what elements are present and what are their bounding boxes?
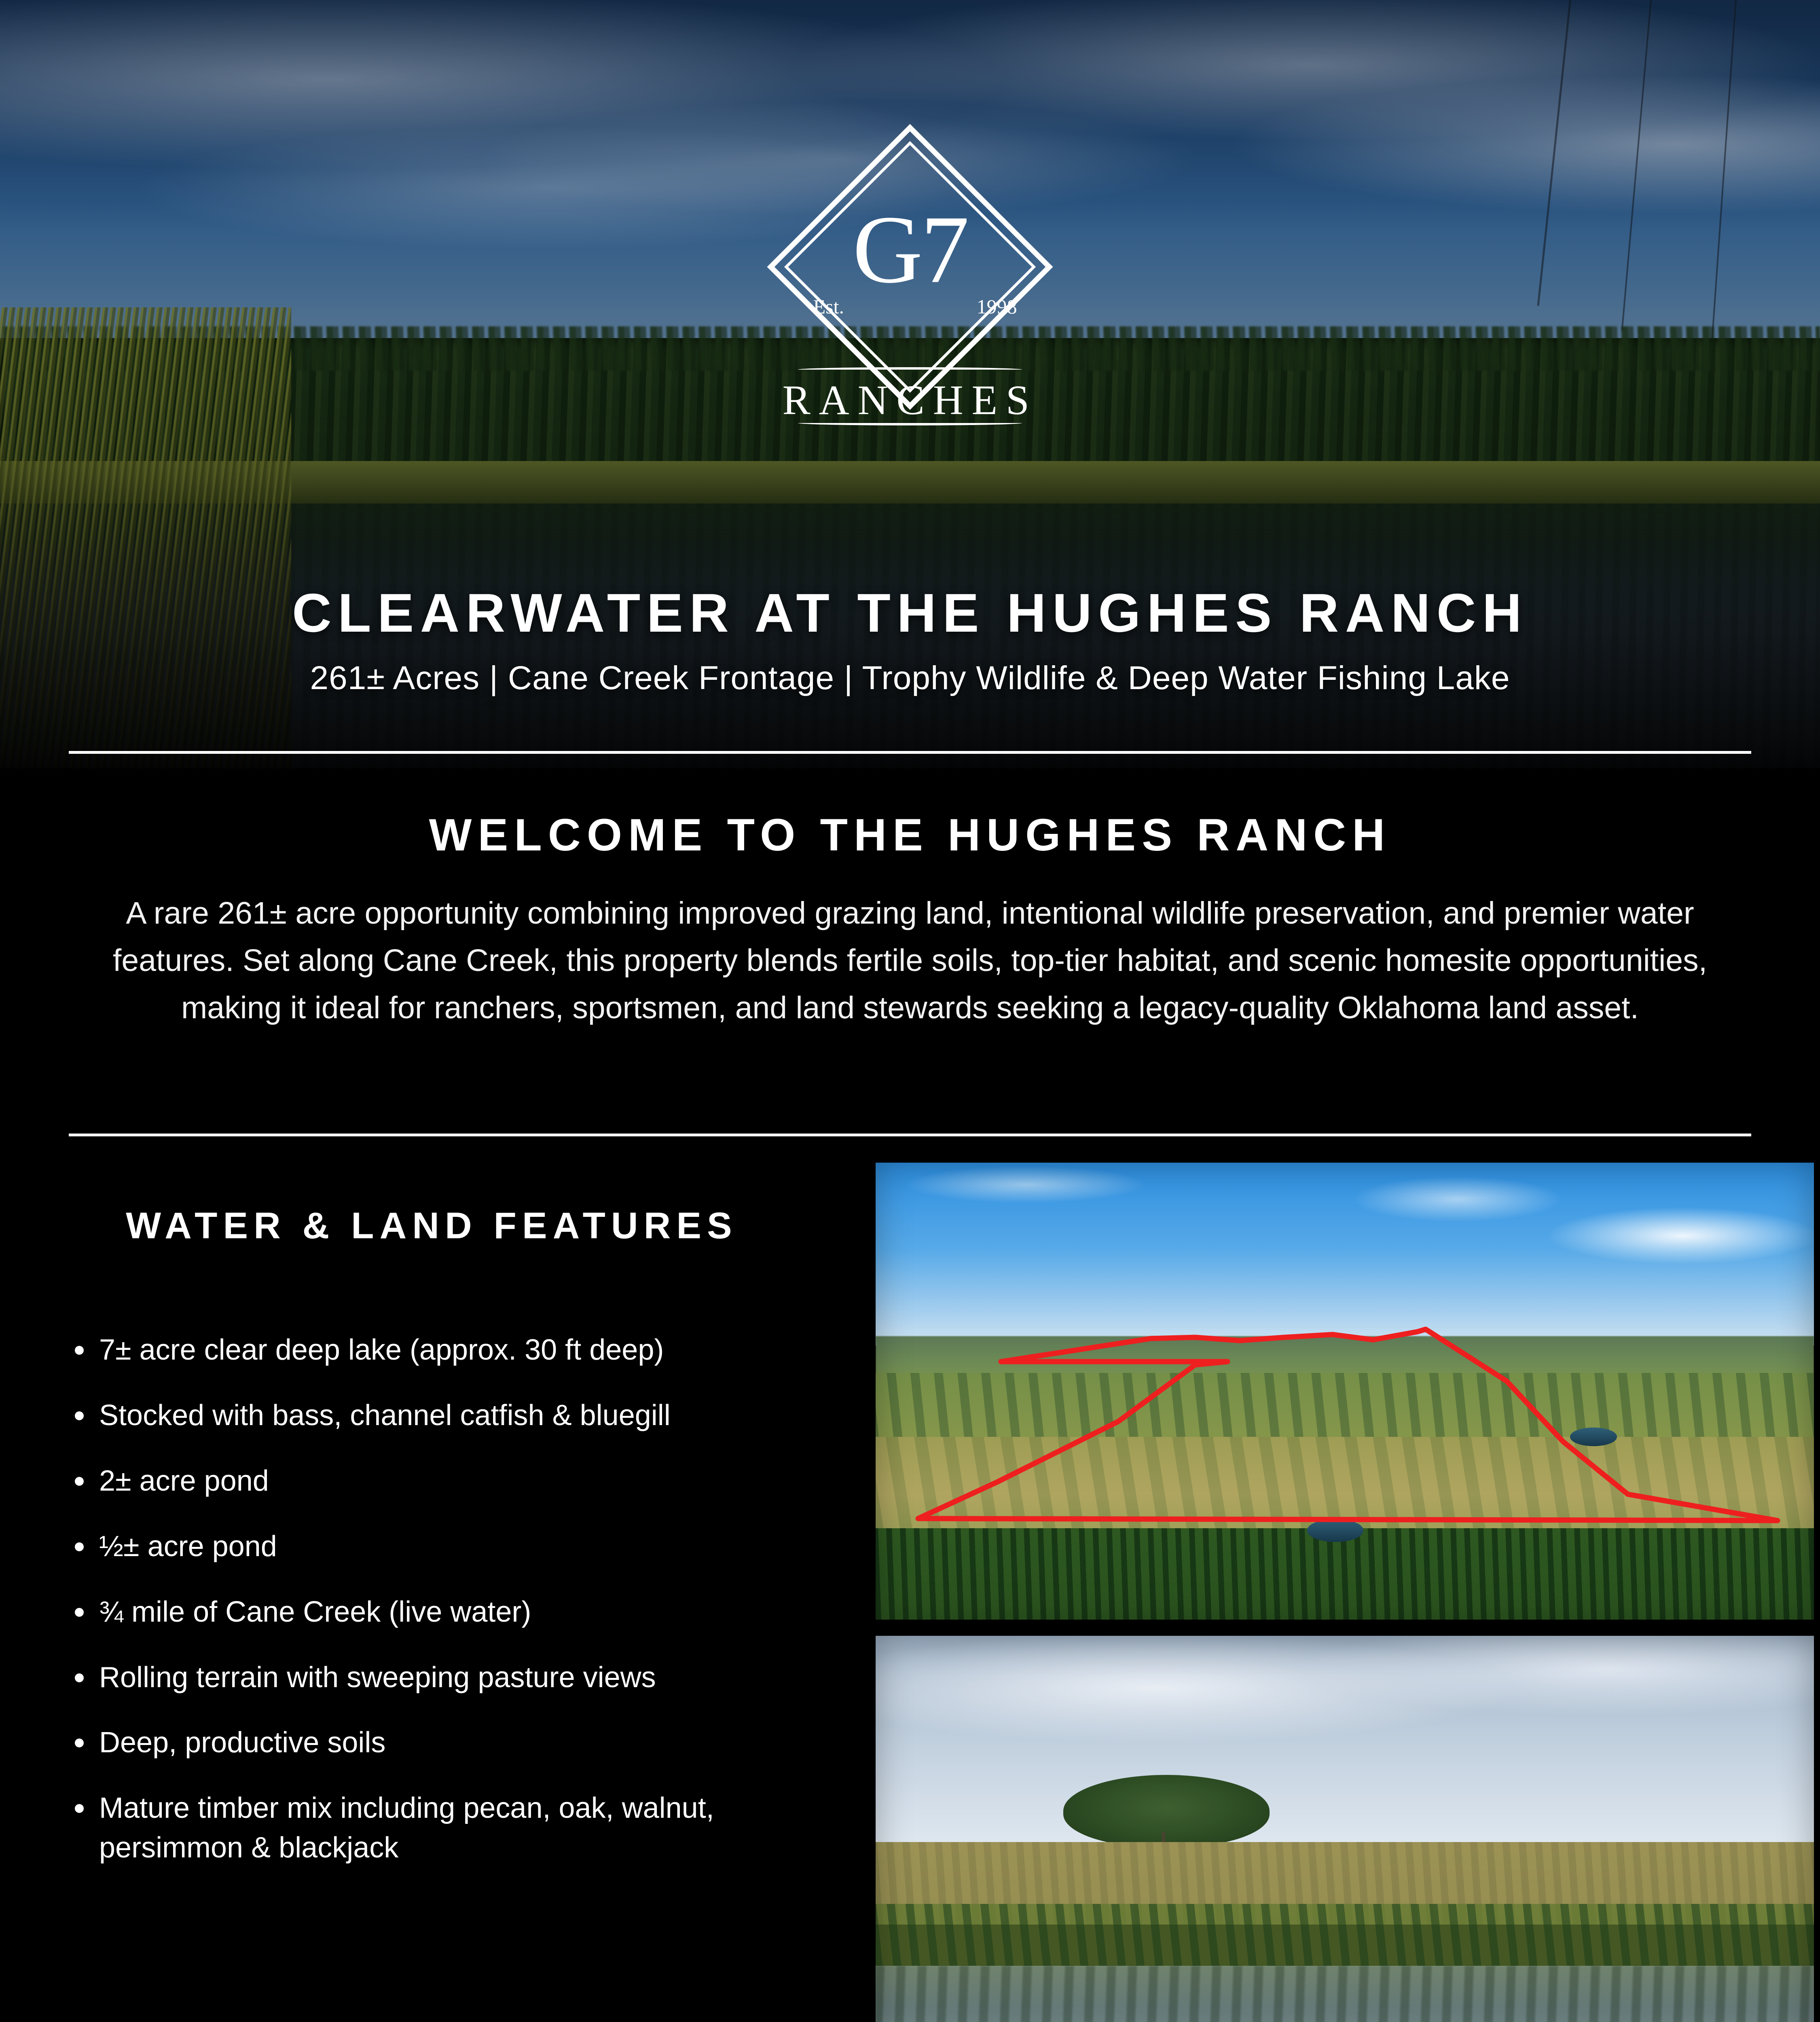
- list-item: Rolling terrain with sweeping pasture vi…: [51, 1658, 851, 1698]
- lake-scene: [876, 1636, 1814, 2022]
- welcome-heading: WELCOME TO THE HUGHES RANCH: [0, 809, 1820, 861]
- section-heading-water-land: WATER & LAND FEATURES: [0, 1203, 863, 1248]
- hero-banner: G7 Est. 1998 RANCHES CLEARWATER AT THE H…: [0, 0, 1820, 768]
- page-title: CLEARWATER AT THE HUGHES RANCH: [0, 582, 1820, 644]
- water-land-feature-list: 7± acre clear deep lake (approx. 30 ft d…: [51, 1330, 851, 1894]
- g7-ranches-logo: G7 Est. 1998 RANCHES: [783, 121, 1037, 477]
- list-item: 7± acre clear deep lake (approx. 30 ft d…: [51, 1330, 851, 1370]
- photo-vignette: [876, 1163, 1814, 1620]
- list-item: 2± acre pond: [51, 1462, 851, 1501]
- list-item: Stocked with bass, channel catfish & blu…: [51, 1396, 851, 1436]
- aerial-scene: [876, 1163, 1814, 1620]
- logo-est-label: Est.: [813, 295, 844, 318]
- page-subtitle: 261± Acres | Cane Creek Frontage | Troph…: [0, 659, 1820, 697]
- gallery-photo-aerial-property-boundary: [876, 1163, 1814, 1620]
- list-item: ½± acre pond: [51, 1527, 851, 1567]
- logo-arc-top-icon: [798, 367, 1022, 370]
- gallery-photo-lake-lone-tree: [876, 1636, 1814, 2022]
- logo-arc-bottom-icon: [798, 423, 1022, 425]
- logo-year: 1998: [977, 295, 1017, 318]
- list-item: ¾ mile of Cane Creek (live water): [51, 1593, 851, 1632]
- logo-wordmark: RANCHES: [782, 376, 1037, 424]
- divider-top: [69, 751, 1751, 754]
- photo-vignette: [876, 1636, 1814, 2022]
- list-item: Mature timber mix including pecan, oak, …: [51, 1789, 851, 1868]
- list-item: Deep, productive soils: [51, 1723, 851, 1763]
- logo-monogram: G7: [853, 207, 967, 292]
- welcome-body: A rare 261± acre opportunity combining i…: [65, 890, 1755, 1032]
- divider-mid: [69, 1134, 1751, 1136]
